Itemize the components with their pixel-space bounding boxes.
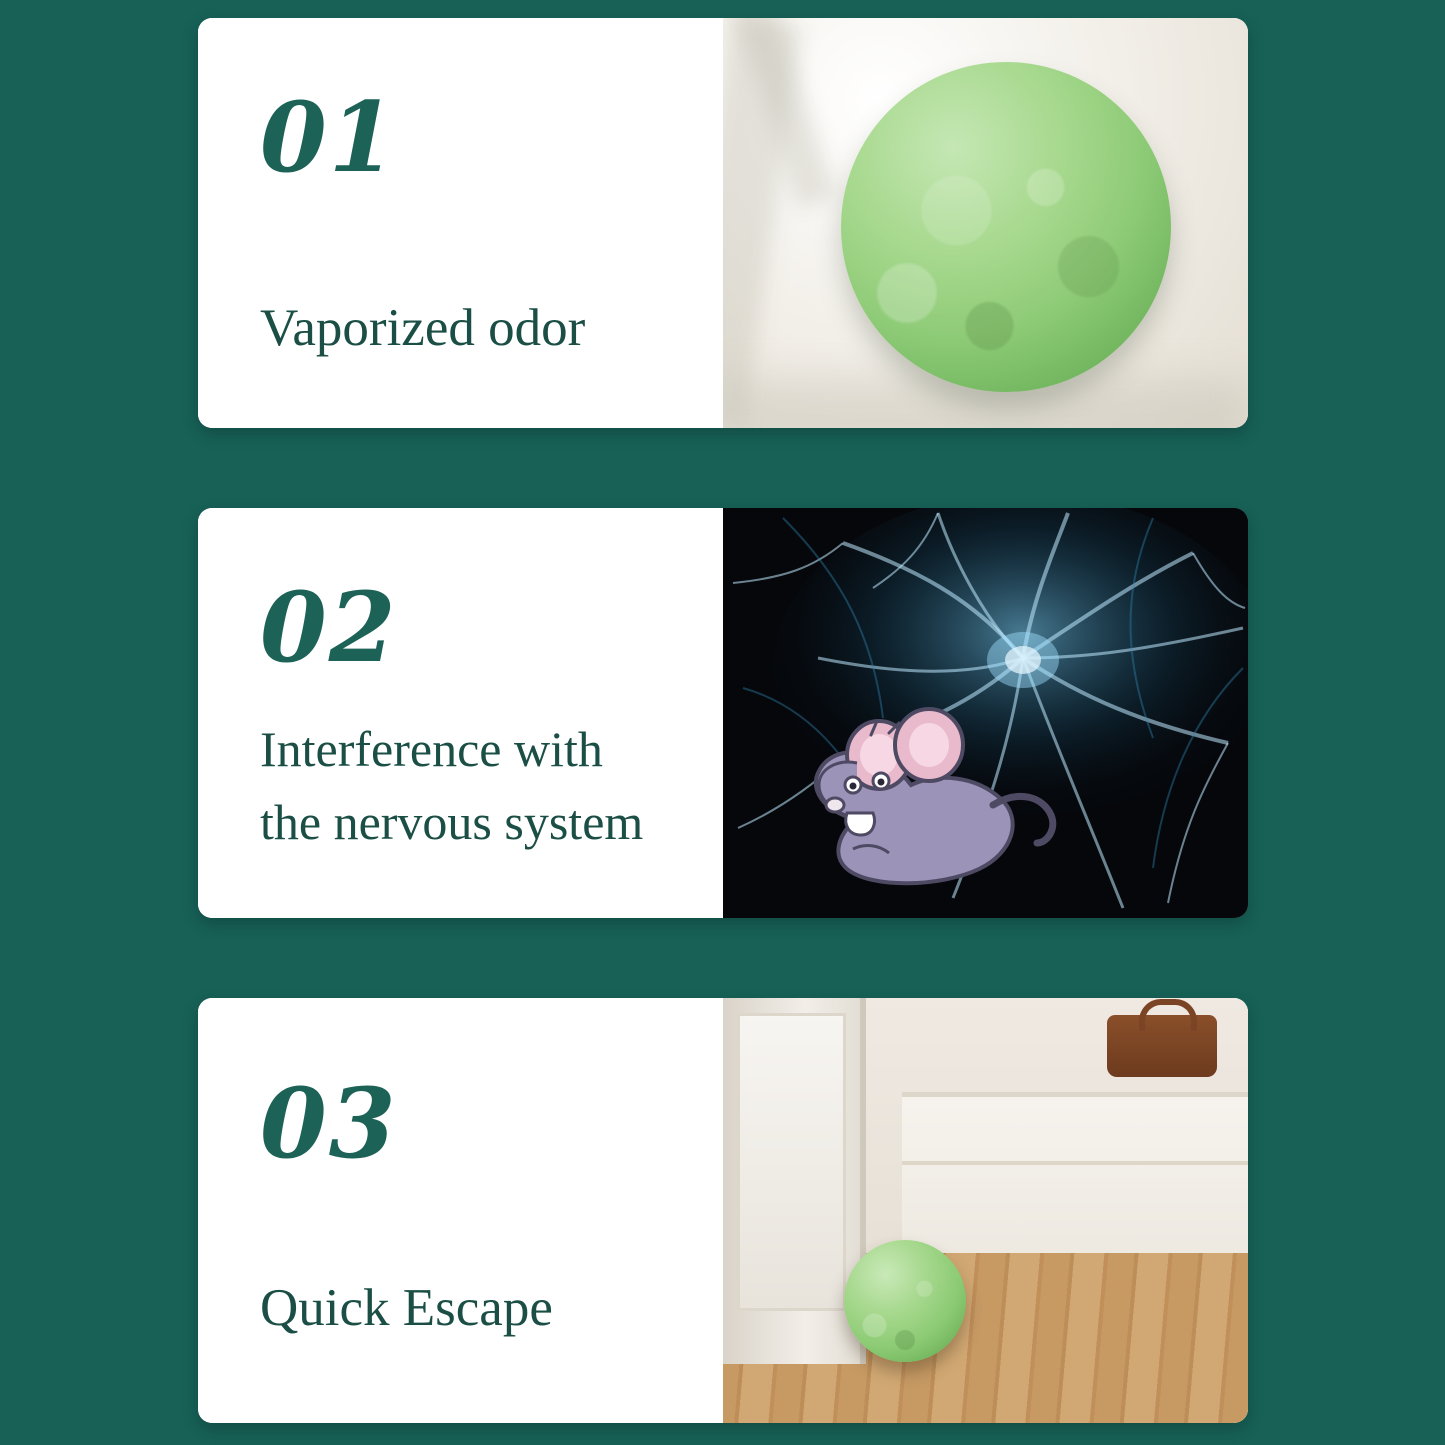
- step-label-03: Quick Escape: [260, 1270, 553, 1347]
- infographic-page: 01 Vaporized odor 02 Interference with t…: [0, 0, 1445, 1445]
- door-panel: [737, 1013, 847, 1311]
- step-label-01: Vaporized odor: [260, 290, 585, 367]
- step-image-03: [723, 998, 1248, 1423]
- step-card-03-text: 03 Quick Escape: [198, 998, 723, 1423]
- step-card-01: 01 Vaporized odor: [198, 18, 1248, 428]
- step-label-02: Interference with the nervous system: [260, 713, 643, 858]
- cartoon-mouse-icon: [761, 693, 1061, 888]
- step-image-02: [723, 508, 1248, 918]
- step-number-01: 01: [260, 90, 398, 186]
- step-card-03: 03 Quick Escape: [198, 998, 1248, 1423]
- step-image-01: [723, 18, 1248, 428]
- step-card-02: 02 Interference with the nervous system: [198, 508, 1248, 918]
- leather-bag-icon: [1107, 1015, 1217, 1077]
- step-number-02: 02: [260, 580, 398, 676]
- step-card-02-text: 02 Interference with the nervous system: [198, 508, 723, 918]
- green-ball-icon: [841, 62, 1171, 392]
- step-card-01-text: 01 Vaporized odor: [198, 18, 723, 428]
- cabinet-seam-top: [902, 1161, 1249, 1165]
- green-ball-icon: [844, 1240, 966, 1362]
- step-number-03: 03: [260, 1076, 398, 1172]
